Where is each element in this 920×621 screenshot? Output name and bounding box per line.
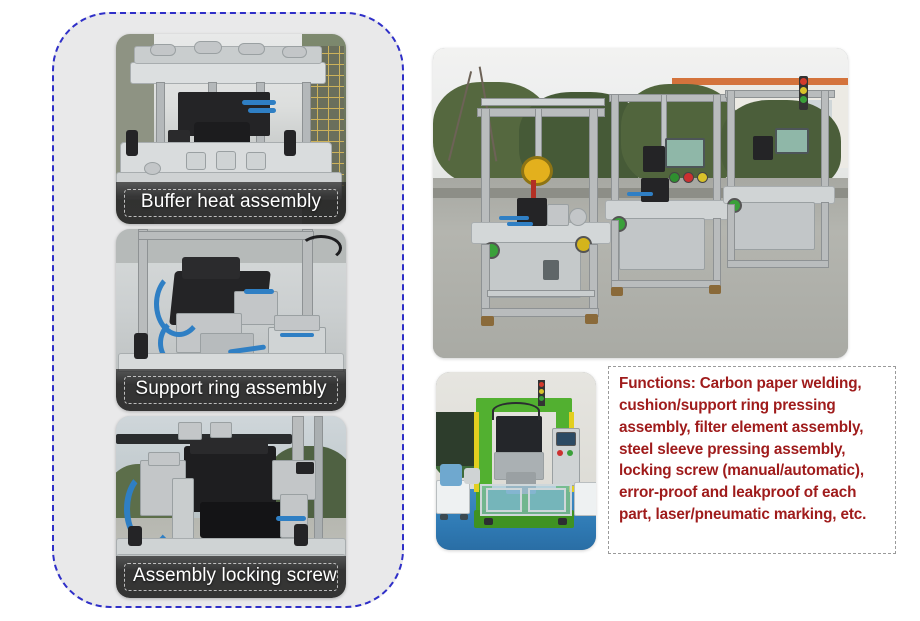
functions-description-box: Functions: Carbon paper welding, cushion… xyxy=(608,366,896,554)
caption-text: Support ring assembly xyxy=(135,378,326,399)
photo-card-assembly-locking-screw[interactable]: Assembly locking screw xyxy=(116,416,346,598)
caption-support-ring-assembly: Support ring assembly xyxy=(116,369,346,411)
photo-card-buffer-heat-assembly[interactable]: Buffer heat assembly xyxy=(116,34,346,224)
left-photo-panel: Buffer heat assembly xyxy=(52,12,404,608)
caption-text: Assembly locking screw xyxy=(133,565,337,586)
caption-assembly-locking-screw: Assembly locking screw xyxy=(116,556,346,598)
photo-assembly-machines-line[interactable] xyxy=(433,48,848,358)
caption-text: Buffer heat assembly xyxy=(141,191,321,212)
functions-text: Functions: Carbon paper welding, cushion… xyxy=(619,373,885,526)
photo-card-support-ring-assembly[interactable]: Support ring assembly xyxy=(116,229,346,411)
caption-buffer-heat-assembly: Buffer heat assembly xyxy=(116,182,346,224)
photo-green-press-machine[interactable] xyxy=(436,372,596,550)
